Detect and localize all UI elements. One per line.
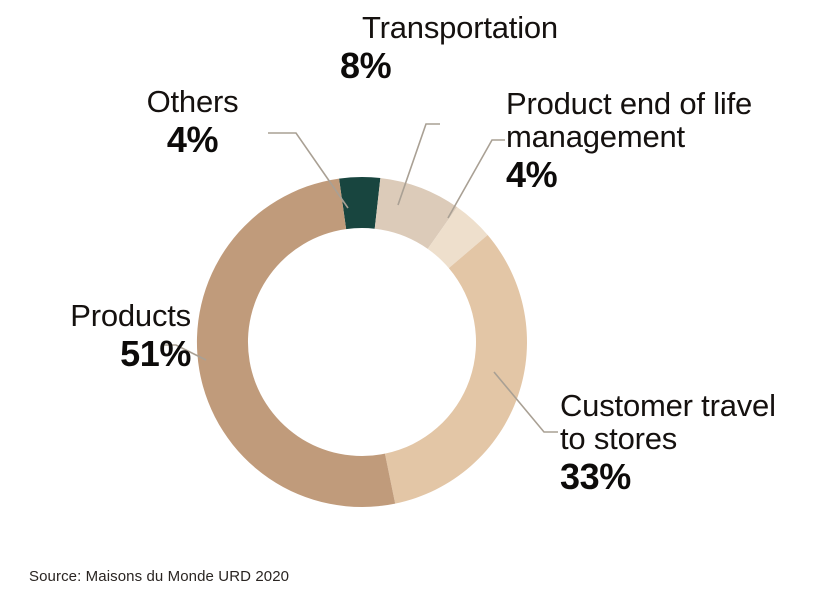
slice-label-customer-travel-name-line2: to stores bbox=[560, 423, 835, 456]
slice-label-products: Products 51% bbox=[6, 300, 191, 373]
slice-label-transportation-value: 8% bbox=[330, 47, 590, 85]
leader-line-product-end-of-life bbox=[448, 140, 505, 218]
slice-label-others: Others 4% bbox=[110, 86, 275, 159]
slice-label-products-name: Products bbox=[6, 300, 191, 333]
slice-label-others-name: Others bbox=[110, 86, 275, 119]
donut-slices bbox=[197, 177, 527, 507]
slice-customer-travel[interactable] bbox=[385, 235, 527, 504]
slice-label-transportation: Transportation 8% bbox=[330, 12, 590, 85]
slice-label-transportation-name: Transportation bbox=[330, 12, 590, 45]
slice-label-product-end-of-life-name-line2: management bbox=[506, 121, 816, 154]
slice-label-product-end-of-life: Product end of life management 4% bbox=[506, 88, 816, 194]
slice-label-others-value: 4% bbox=[110, 121, 275, 159]
source-note: Source: Maisons du Monde URD 2020 bbox=[29, 568, 289, 585]
slice-label-customer-travel: Customer travel to stores 33% bbox=[560, 390, 835, 496]
slice-label-customer-travel-value: 33% bbox=[560, 458, 835, 496]
chart-canvas: Transportation 8% Others 4% Product end … bbox=[0, 0, 835, 607]
slice-label-product-end-of-life-value: 4% bbox=[506, 156, 816, 194]
slice-label-customer-travel-name-line1: Customer travel bbox=[560, 390, 835, 423]
slice-label-products-value: 51% bbox=[6, 335, 191, 373]
slice-label-product-end-of-life-name-line1: Product end of life bbox=[506, 88, 816, 121]
